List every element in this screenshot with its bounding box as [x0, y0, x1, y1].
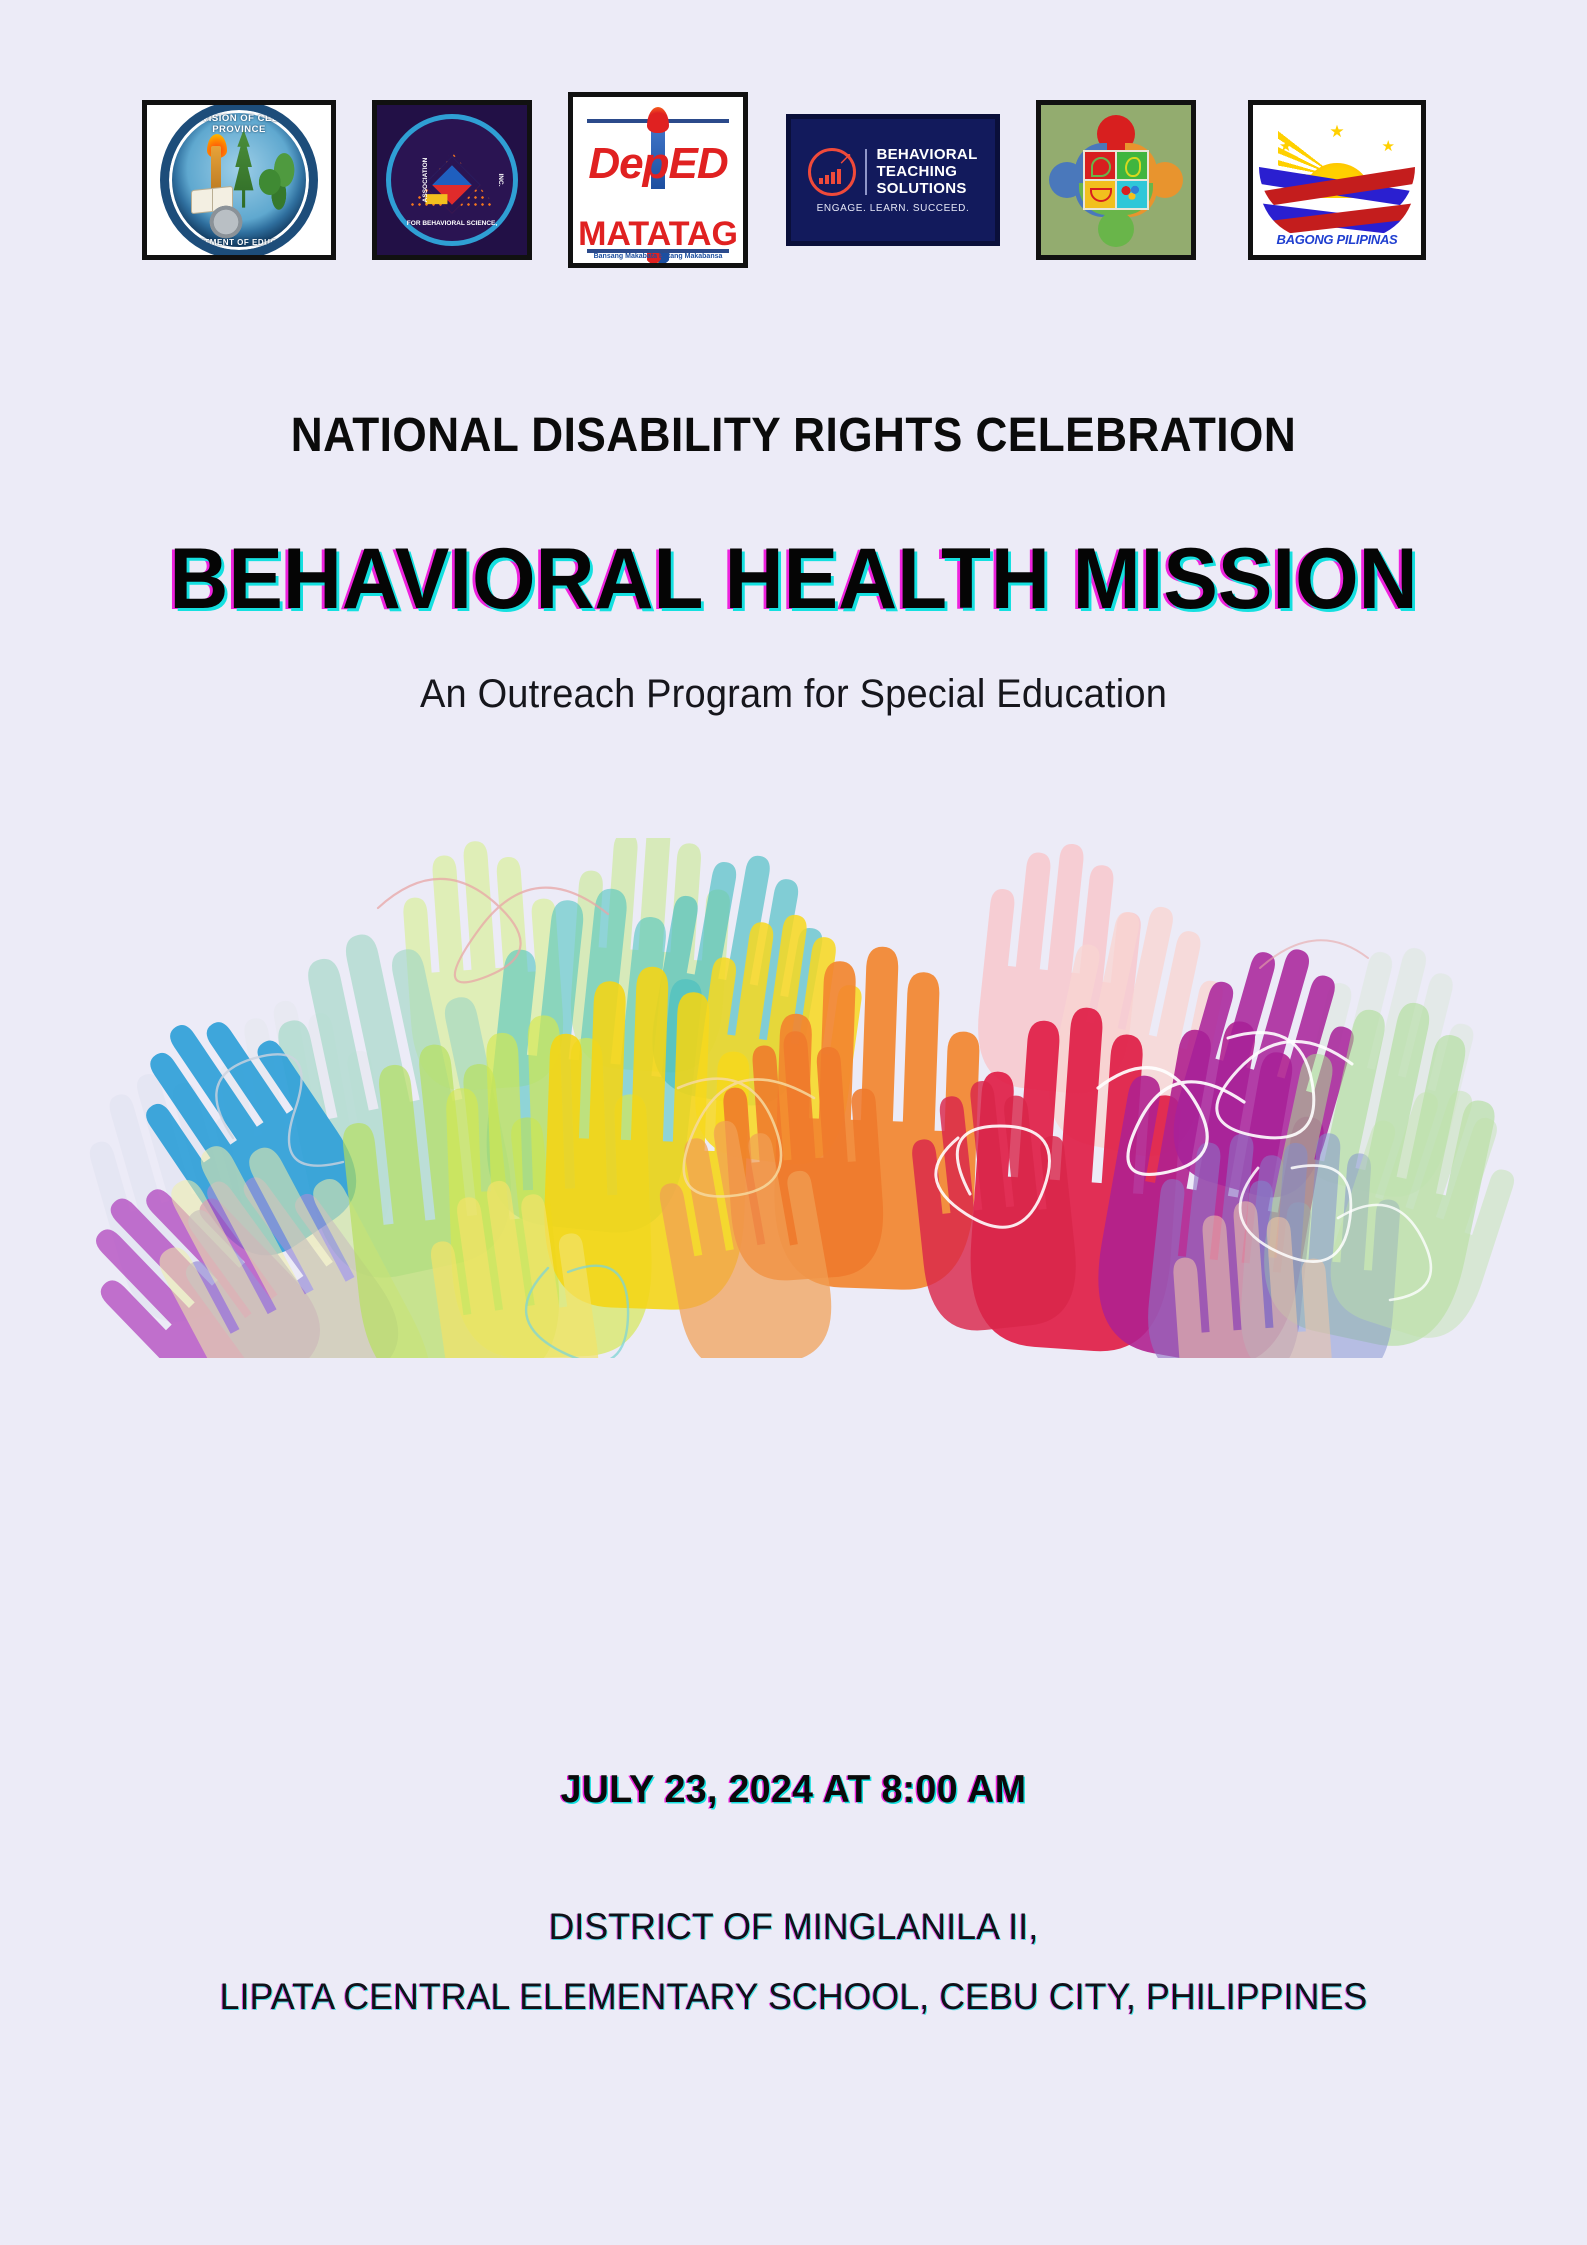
logo-special-education-inclusive	[1036, 100, 1196, 260]
logo-division-of-cebu-province: DIVISION OF CEBU PROVINCE DEPARTMENT OF …	[142, 100, 336, 260]
abs-ring-icon: ASSOCIATION INC. FOR BEHAVIORAL SCIENCE,	[386, 114, 518, 246]
deped-word-dep: Dep	[588, 139, 668, 188]
figure-bottom-head-icon	[1098, 211, 1134, 247]
matatag-tagline: Bansang Makabata Batang Makabansa	[573, 253, 743, 260]
abs-label-left: ASSOCIATION	[422, 158, 429, 203]
logo-association-for-behavioral-science: ASSOCIATION INC. FOR BEHAVIORAL SCIENCE,	[372, 100, 532, 260]
deped-wordmark: DepED	[573, 139, 743, 189]
poster-canvas: DIVISION OF CEBU PROVINCE DEPARTMENT OF …	[0, 0, 1587, 2245]
bts-line-2: TEACHING	[876, 163, 977, 180]
colorful-hands-illustration	[78, 838, 1518, 1358]
ear-hearing-icon	[1117, 152, 1147, 179]
growth-chart-badge-icon	[808, 148, 856, 196]
bts-wordmark: BEHAVIORAL TEACHING SOLUTIONS	[876, 146, 977, 198]
seal-top-text: DIVISION OF CEBU PROVINCE	[169, 113, 309, 135]
partner-logo-row: DIVISION OF CEBU PROVINCE DEPARTMENT OF …	[0, 88, 1587, 268]
bagong-pilipinas-wordmark: BAGONG PILIPINAS	[1253, 232, 1421, 247]
abs-label-right: INC.	[497, 174, 504, 187]
senses-grid	[1083, 150, 1149, 210]
bts-tagline: ENGAGE. LEARN. SUCCEED.	[817, 203, 970, 214]
logo-deped-matatag: DepED MATATAG Bansang Makabata Batang Ma…	[568, 92, 748, 268]
bts-line-3: SOLUTIONS	[876, 180, 977, 197]
venue-district: DISTRICT OF MINGLANILA II,	[32, 1906, 1556, 1948]
mouth-speech-icon	[1085, 181, 1115, 208]
star-left-icon: ★	[1279, 139, 1292, 154]
gear-icon	[205, 205, 247, 239]
tongue-taste-icon	[1085, 152, 1115, 179]
logo-behavioral-teaching-solutions: BEHAVIORAL TEACHING SOLUTIONS ENGAGE. LE…	[786, 114, 1000, 246]
event-datetime: JULY 23, 2024 AT 8:00 AM	[32, 1768, 1556, 1812]
abs-label-bottom: FOR BEHAVIORAL SCIENCE,	[407, 220, 497, 227]
venue-address: LIPATA CENTRAL ELEMENTARY SCHOOL, CEBU C…	[32, 1976, 1556, 2018]
laurel-icon	[259, 152, 295, 212]
star-right-icon: ★	[1382, 139, 1395, 154]
bts-line-1: BEHAVIORAL	[876, 146, 977, 163]
event-eyebrow-title: NATIONAL DISABILITY RIGHTS CELEBRATION	[63, 408, 1523, 463]
cebu-province-seal-icon: DIVISION OF CEBU PROVINCE DEPARTMENT OF …	[160, 101, 318, 259]
page-subtitle: An Outreach Program for Special Educatio…	[40, 672, 1548, 717]
vertical-divider	[865, 149, 867, 195]
logo-bagong-pilipinas: ★ ★ ★ BAGONG PILIPINAS	[1248, 100, 1426, 260]
seal-bottom-text: DEPARTMENT OF EDUCATION	[169, 238, 309, 247]
page-title: BEHAVIORAL HEALTH MISSION	[40, 530, 1548, 629]
deped-bottom-rule	[587, 249, 729, 253]
brain-cognition-icon	[1117, 181, 1147, 208]
deped-word-ed: ED	[669, 139, 728, 188]
star-center-icon: ★	[1329, 123, 1344, 140]
